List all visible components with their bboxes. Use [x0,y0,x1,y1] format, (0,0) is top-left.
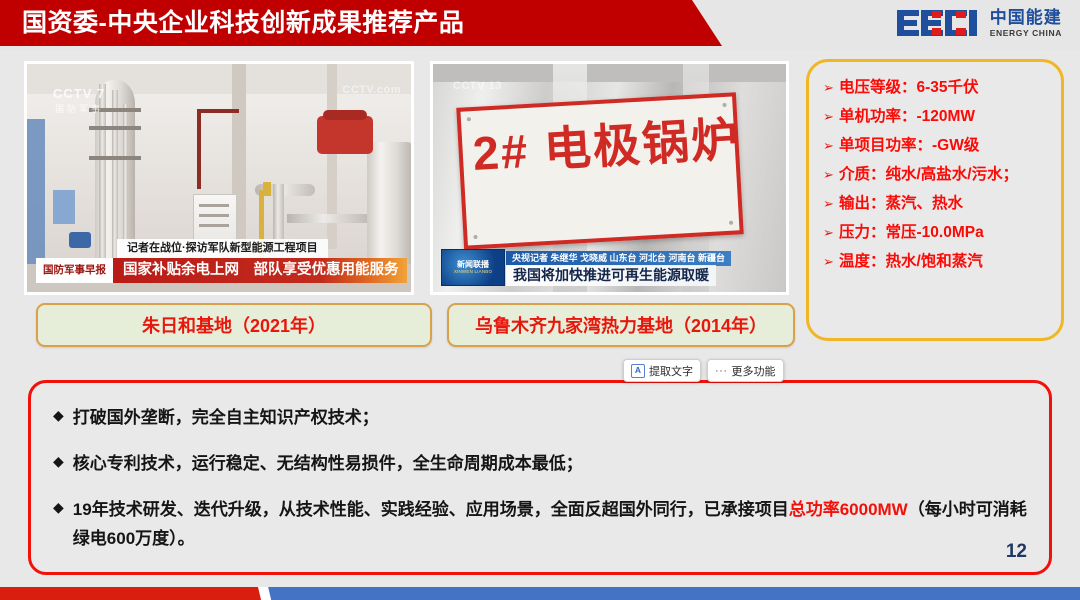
right-broadcast-headline: 我国将加快推进可再生能源取暖 [506,265,716,286]
spec-arrow-icon: ➢ [823,165,839,185]
xinwen-lianbo-logo: 新闻联播 XINWEN LIANBO [441,249,505,286]
spec-row: ➢单机功率：-120MW [823,107,1061,127]
page-title: 国资委-中央企业科技创新成果推荐产品 [22,5,464,41]
bullet-text: 核心专利技术，运行稳定、无结构性易损件，全生命周期成本最低； [73,449,583,478]
slide-header: 国资委-中央企业科技创新成果推荐产品 中国能建 ENERGY CHINA [0,0,1080,50]
brand-name-en: ENERGY CHINA [990,29,1062,38]
cctv7-watermark: CCTV 7 国防军事 [53,86,105,115]
extract-text-button[interactable]: A 提取文字 [623,359,701,382]
slide-body: CCTV 7 国防军事 CCTV.com 记者在战位·探访军队新型能源工程项目 … [0,50,1080,585]
bullet-row: ◆核心专利技术，运行稳定、无结构性易损件，全生命周期成本最低； [53,449,1027,478]
bullet-diamond-icon: ◆ [53,449,64,473]
footer-progress-notch [258,587,280,600]
cctv13-watermark: CCTV 13 [453,80,502,92]
cctv13-name: CCTV [453,80,485,92]
photo-zhurihe-base[interactable]: CCTV 7 国防军事 CCTV.com 记者在战位·探访军队新型能源工程项目 … [24,61,414,295]
electrode-boiler-sign: 2# 电极锅炉 [456,92,743,249]
right-broadcast-credits: 央视记者 朱继华 戈晓威 山东台 河北台 河南台 新疆台 [506,251,731,266]
bullet-segment: 核心专利技术，运行稳定、无结构性易损件，全生命周期成本最低； [73,454,583,473]
cctv-channel-number: 7 [97,86,105,101]
bullet-highlight: 总功率6000MW [789,500,908,519]
photo-right-scene: 2# 电极锅炉 CCTV 13 新闻联播 XINWEN LIANBO 央视记者 … [433,64,786,292]
spec-text: 电压等级：6-35千伏 [839,78,979,98]
photo-urumqi-base[interactable]: 2# 电极锅炉 CCTV 13 新闻联播 XINWEN LIANBO 央视记者 … [430,61,789,295]
more-functions-button[interactable]: ··· 更多功能 [707,359,784,382]
extract-text-label: 提取文字 [649,363,693,379]
photo-left-scene: CCTV 7 国防军事 CCTV.com 记者在战位·探访军队新型能源工程项目 … [27,64,411,292]
spec-row: ➢单项目功率：-GW级 [823,136,1061,156]
spec-arrow-icon: ➢ [823,223,839,243]
caption-right: 乌鲁木齐九家湾热力基地（2014年） [447,303,795,347]
caption-right-text: 乌鲁木齐九家湾热力基地（2014年） [475,312,767,338]
bullet-segment: 打破国外垄断，完全自主知识产权技术； [73,408,379,427]
spec-text: 单机功率：-120MW [839,107,975,127]
more-functions-label: 更多功能 [732,363,776,379]
spec-text: 输出：蒸汽、热水 [839,194,963,214]
bullet-diamond-icon: ◆ [53,403,64,427]
xinwen-lianbo-cn: 新闻联播 [457,261,489,270]
footer-progress-fill [0,587,265,600]
caption-left: 朱日和基地（2021年） [36,303,432,347]
bullet-row: ◆打破国外垄断，完全自主知识产权技术； [53,403,1027,432]
ceec-logo-icon [895,8,981,38]
spec-arrow-icon: ➢ [823,107,839,127]
spec-row: ➢输出：蒸汽、热水 [823,194,1061,214]
spec-row: ➢压力：常压-10.0MPa [823,223,1061,243]
left-broadcast-subtitle: 记者在战位·探访军队新型能源工程项目 [117,239,328,258]
spec-row: ➢温度：热水/饱和蒸汽 [823,252,1061,272]
spec-row: ➢介质：纯水/高盐水/污水； [823,165,1061,185]
spec-row: ➢电压等级：6-35千伏 [823,78,1061,98]
extract-text-icon: A [631,364,645,378]
xinwen-lianbo-en: XINWEN LIANBO [454,269,492,274]
sign-label: 2# 电极锅炉 [472,115,742,177]
brand-logo: 中国能建 ENERGY CHINA [895,8,1062,38]
bullet-text: 打破国外垄断，完全自主知识产权技术； [73,403,379,432]
highlights-panel: ◆打破国外垄断，完全自主知识产权技术；◆核心专利技术，运行稳定、无结构性易损件，… [28,380,1052,575]
spec-text: 单项目功率：-GW级 [839,136,979,156]
cctv13-number: 13 [489,80,502,92]
spec-arrow-icon: ➢ [823,194,839,214]
left-program-badge: 国防军事早报 [36,258,113,283]
left-broadcast-headline-band: 国家补贴余电上网 部队享受优惠用能服务 [97,258,407,283]
caption-left-text: 朱日和基地（2021年） [142,312,326,338]
page-number: 12 [1006,541,1027,563]
bullet-row: ◆19年技术研发、迭代升级，从技术性能、实践经验、应用场景，全面反超国外同行，已… [53,495,1027,553]
more-functions-icon: ··· [715,365,728,377]
bullet-text: 19年技术研发、迭代升级，从技术性能、实践经验、应用场景，全面反超国外同行，已承… [73,495,1027,553]
ocr-floating-toolbar[interactable]: A 提取文字 ··· 更多功能 [623,359,784,382]
spec-text: 压力：常压-10.0MPa [839,223,984,243]
spec-arrow-icon: ➢ [823,78,839,98]
cctv-channel-sub: 国防军事 [53,102,105,115]
spec-text: 介质：纯水/高盐水/污水； [839,165,1018,185]
spec-arrow-icon: ➢ [823,252,839,272]
brand-name-cn: 中国能建 [990,9,1062,26]
cctv-channel-name: CCTV [53,86,92,101]
bullet-diamond-icon: ◆ [53,495,64,519]
left-broadcast-headline: 国家补贴余电上网 部队享受优惠用能服务 [123,262,399,278]
spec-arrow-icon: ➢ [823,136,839,156]
cctv-com-watermark: CCTV.com [342,84,401,96]
specifications-panel: ➢电压等级：6-35千伏➢单机功率：-120MW➢单项目功率：-GW级➢介质：纯… [806,59,1064,341]
bullet-segment: 19年技术研发、迭代升级，从技术性能、实践经验、应用场景，全面反超国外同行，已承… [73,500,789,519]
footer-progress-bar[interactable] [0,587,1080,600]
spec-text: 温度：热水/饱和蒸汽 [839,252,983,272]
